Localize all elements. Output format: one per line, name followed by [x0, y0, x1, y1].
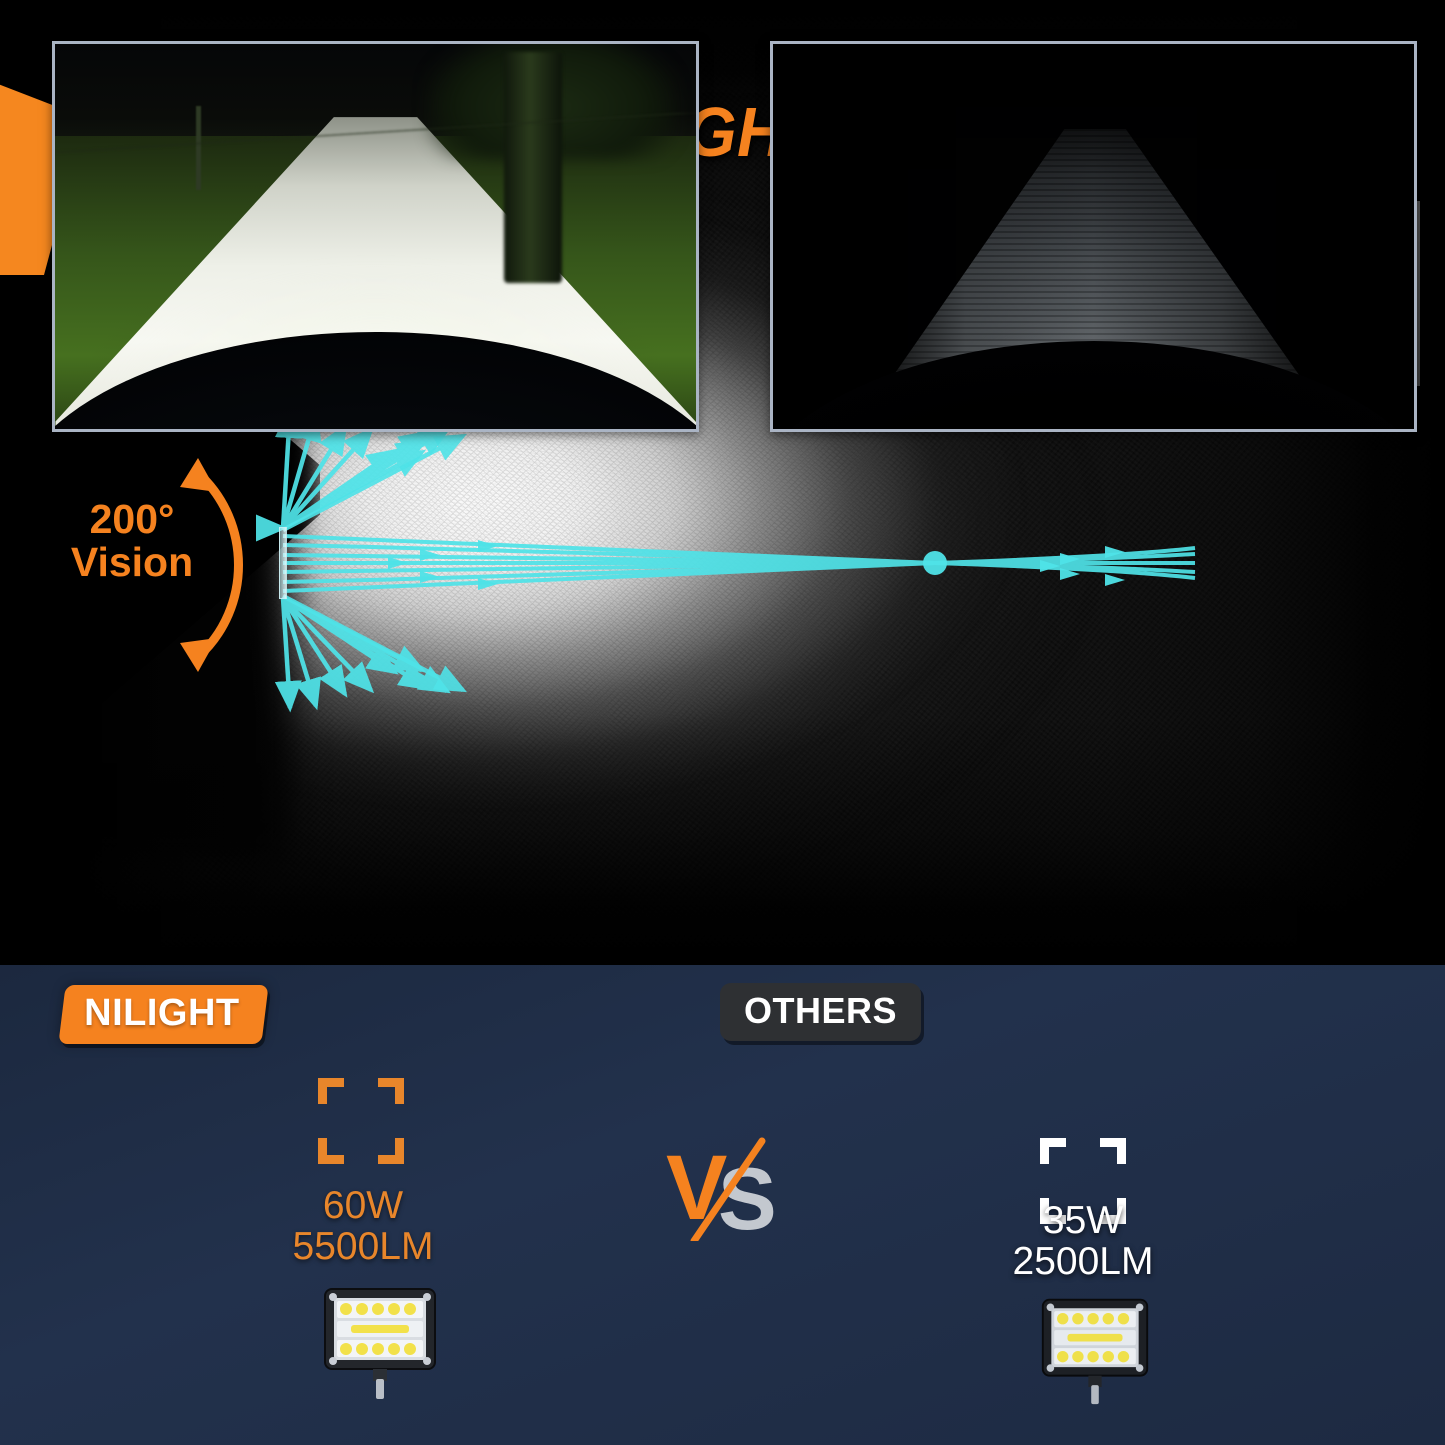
- light-emitter: [279, 527, 287, 599]
- comparison-panel-others: [770, 41, 1417, 432]
- beam-convergence-node: [923, 551, 947, 575]
- badge-others: OTHERS: [720, 983, 921, 1041]
- led-light-bar-icon: [321, 1283, 439, 1401]
- tree-trunk: [504, 52, 562, 283]
- others-output-figures: 35W 2500LM: [968, 1200, 1198, 1283]
- others-lumens: 2500LM: [968, 1241, 1198, 1282]
- nilight-lumens: 5500LM: [248, 1226, 478, 1267]
- product-banner: UPGRADE BRIGHTER & WIDER UP to 5500LM Vo…: [0, 0, 1445, 1445]
- overhead-wire: [55, 113, 696, 153]
- badge-others-label: OTHERS: [744, 990, 897, 1031]
- versus-badge-icon: V S: [666, 1137, 784, 1241]
- led-light-bar-icon: [1039, 1294, 1151, 1406]
- comparison-panel-nilight: [52, 41, 699, 432]
- double-arrow-arc-icon: [160, 440, 280, 690]
- others-power: 35W: [968, 1200, 1198, 1241]
- focus-reticle-icon: [318, 1078, 404, 1164]
- nilight-road-scene: [55, 44, 696, 429]
- nilight-power: 60W: [248, 1185, 478, 1226]
- nilight-output-figures: 60W 5500LM: [248, 1185, 478, 1268]
- badge-nilight: NILIGHT: [58, 985, 269, 1044]
- others-road-scene: [773, 44, 1414, 429]
- badge-nilight-label: NILIGHT: [84, 992, 239, 1035]
